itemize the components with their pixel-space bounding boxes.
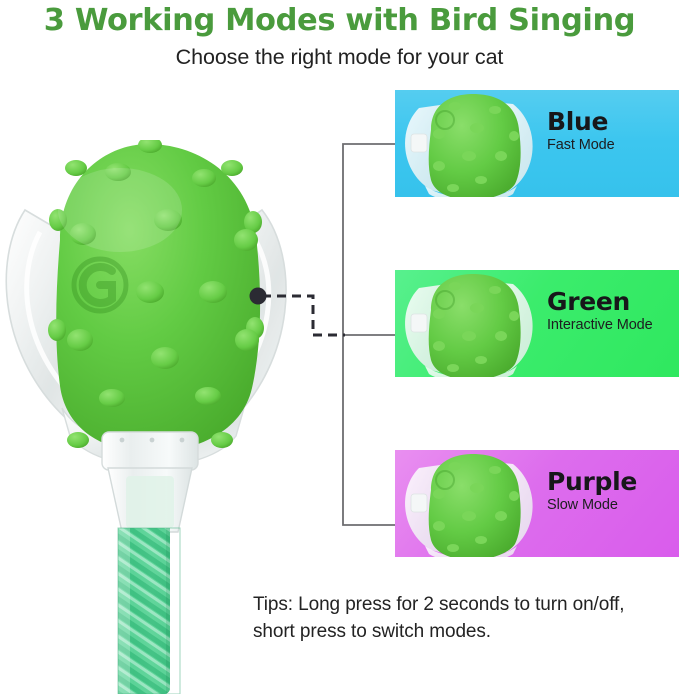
mode-title-purple: Purple: [547, 468, 679, 495]
mode-title-blue: Blue: [547, 108, 679, 135]
mode-card-green-text: Green Interactive Mode: [547, 288, 679, 334]
mode-card-blue-text: Blue Fast Mode: [547, 108, 679, 154]
tips-line-2: short press to switch modes.: [253, 619, 673, 646]
mode-title-green: Green: [547, 288, 679, 315]
mode-card-blue[interactable]: Blue Fast Mode: [395, 90, 679, 197]
tips-line-1: Tips: Long press for 2 seconds to turn o…: [253, 592, 673, 619]
mode-card-green-photo: [395, 270, 545, 377]
header: 3 Working Modes with Bird Singing Choose…: [0, 0, 679, 70]
product-ball: [48, 140, 264, 463]
mode-card-blue-photo: [395, 90, 545, 197]
mode-subtitle-green: Interactive Mode: [547, 315, 679, 334]
mode-card-green[interactable]: Green Interactive Mode: [395, 270, 679, 377]
page-title: 3 Working Modes with Bird Singing: [0, 0, 679, 38]
page-subtitle: Choose the right mode for your cat: [0, 38, 679, 70]
product-collar: [102, 432, 198, 532]
mode-card-purple-text: Purple Slow Mode: [547, 468, 679, 514]
mode-card-purple[interactable]: Purple Slow Mode: [395, 450, 679, 557]
mode-card-purple-photo: [395, 450, 545, 557]
mode-subtitle-purple: Slow Mode: [547, 495, 679, 514]
mode-subtitle-blue: Fast Mode: [547, 135, 679, 154]
tips-text: Tips: Long press for 2 seconds to turn o…: [253, 592, 673, 646]
